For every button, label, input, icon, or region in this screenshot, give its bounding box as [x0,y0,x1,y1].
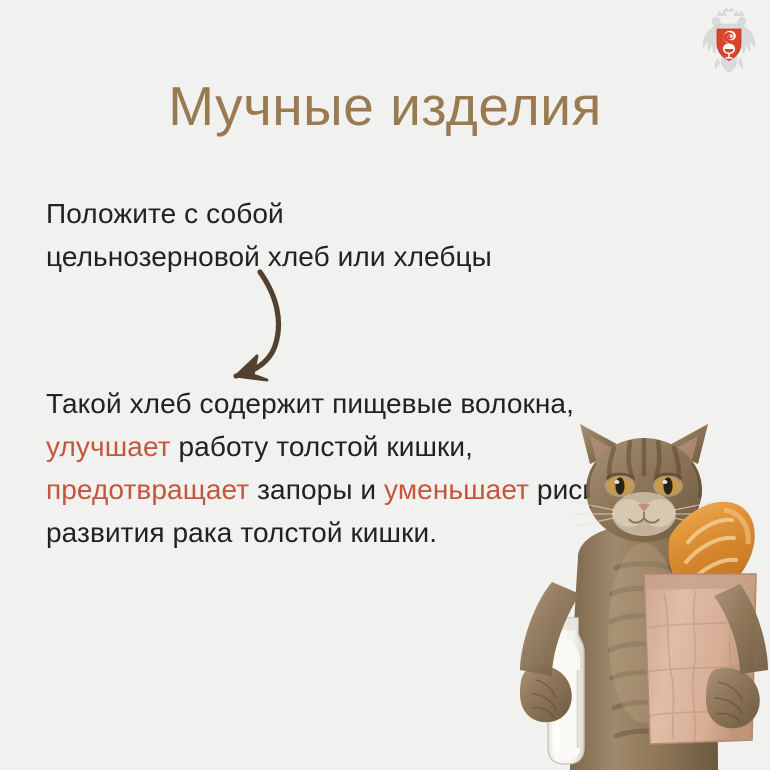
curved-down-left-arrow-icon [205,258,325,388]
body-text-part-1: Такой хлеб содержит пищевые волокна, [46,388,574,419]
body-text-part-2: работу толстой кишки, [171,431,473,462]
cat-with-milk-and-bread-illustration [518,418,770,770]
intro-line-1: Положите с собой [46,198,284,229]
highlight-uluchshaet: улучшает [46,431,171,462]
intro-paragraph: Положите с собой цельнозерновой хлеб или… [46,192,646,278]
body-text-part-3: запоры и [249,474,384,505]
highlight-predotvrashchaet: предотвращает [46,474,249,505]
rospotrebnadzor-emblem-icon [698,8,760,74]
highlight-umenshaet: уменьшает [384,474,529,505]
poster-root: Мучные изделия Положите с собой цельнозе… [0,0,770,770]
page-title: Мучные изделия [0,74,770,138]
